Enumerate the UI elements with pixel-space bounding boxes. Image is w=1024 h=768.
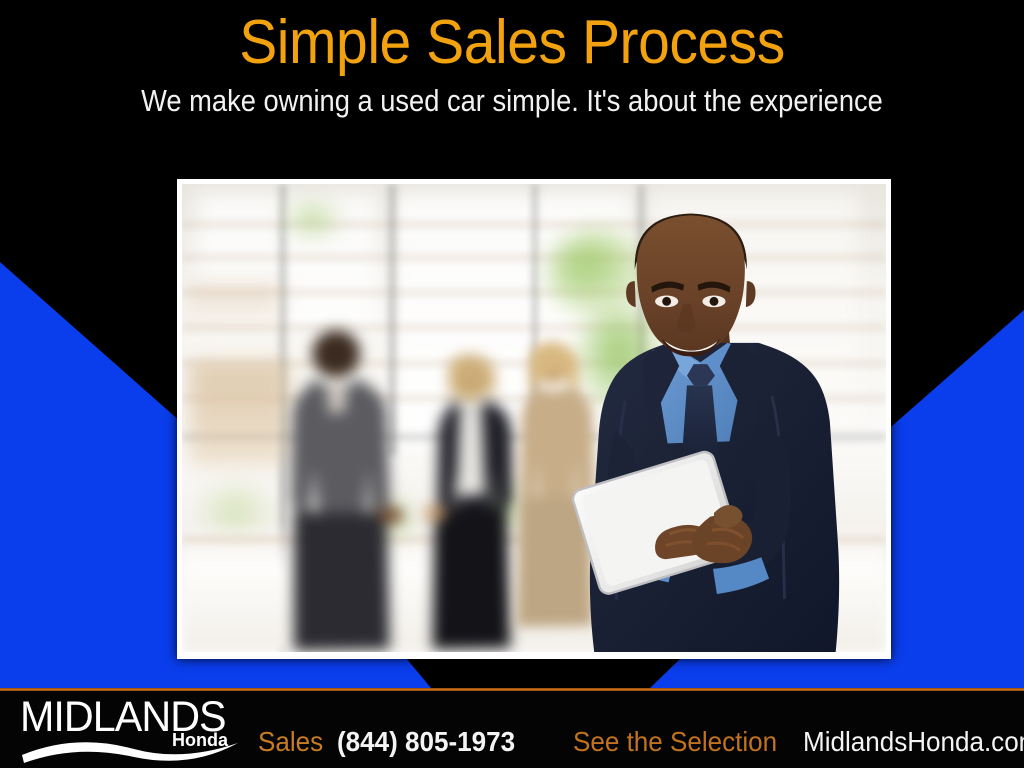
foliage <box>281 198 344 240</box>
wall-block <box>189 282 281 329</box>
sales-label: Sales <box>258 726 323 758</box>
footer-bar: MIDLANDS Honda Sales (844) 805-1973 See … <box>0 691 1024 768</box>
pupil-left <box>662 297 671 306</box>
midlands-honda-logo[interactable]: MIDLANDS Honda <box>18 693 248 765</box>
sales-phone-number[interactable]: (844) 805-1973 <box>337 726 515 758</box>
blue-band-left <box>0 658 432 688</box>
blue-chevron-left <box>0 255 190 690</box>
see-selection-label: See the Selection <box>573 726 777 758</box>
foreground-businessman <box>513 198 886 652</box>
page-title: Simple Sales Process <box>41 0 983 80</box>
pupil-right <box>709 297 718 306</box>
hero-photo <box>182 184 886 652</box>
website-url[interactable]: MidlandsHonda.com <box>803 726 1024 758</box>
logo-swoosh-icon <box>18 733 248 763</box>
photo-frame <box>177 179 891 659</box>
blue-band-right <box>650 658 1024 688</box>
page-subtitle: We make owning a used car simple. It's a… <box>61 82 962 120</box>
footer-contact-row: Sales (844) 805-1973 See the Selection M… <box>258 722 1024 762</box>
background-person-man-grey-suit <box>270 329 411 652</box>
headline-block: Simple Sales Process We make owning a us… <box>0 0 1024 150</box>
ear-right <box>746 281 756 307</box>
ear-left <box>626 281 636 307</box>
slide-canvas: Simple Sales Process We make owning a us… <box>0 0 1024 768</box>
